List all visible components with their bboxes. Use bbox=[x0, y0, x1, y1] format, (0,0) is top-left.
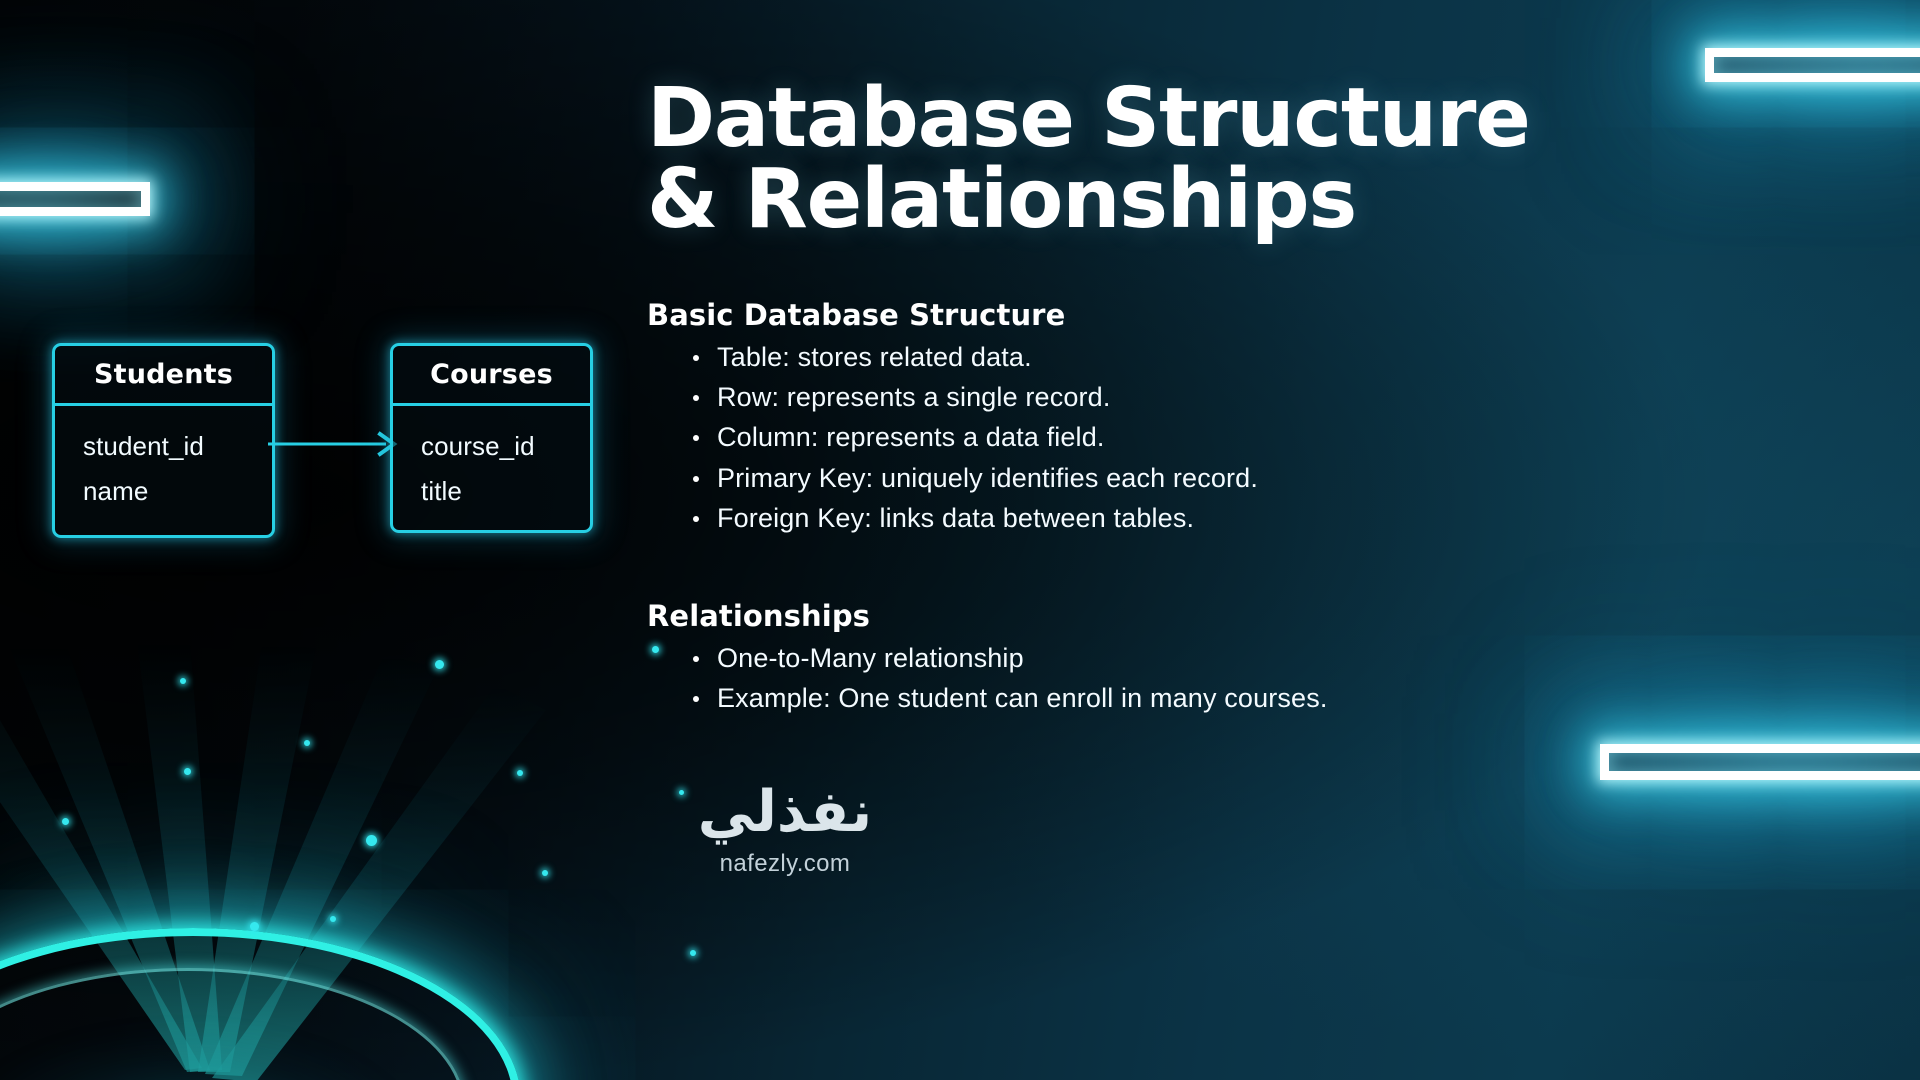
section-heading: Relationships bbox=[647, 599, 1827, 633]
list-item: Example: One student can enroll in many … bbox=[693, 679, 1827, 717]
er-diagram: Students student_id name Courses course_… bbox=[52, 343, 612, 543]
er-field-list: student_id name bbox=[55, 406, 272, 514]
list-item: Column: represents a data field. bbox=[693, 418, 1827, 456]
neon-bar-left bbox=[0, 182, 150, 216]
er-field: title bbox=[421, 469, 590, 514]
er-table-header: Students bbox=[55, 346, 272, 406]
ring-glow-decoration bbox=[0, 640, 700, 1080]
list-item: Table: stores related data. bbox=[693, 338, 1827, 376]
watermark-domain: nafezly.com bbox=[695, 850, 875, 878]
particle-dot bbox=[517, 770, 523, 776]
er-field: name bbox=[83, 469, 272, 514]
er-field: student_id bbox=[83, 424, 272, 469]
er-table-name: Courses bbox=[430, 359, 553, 390]
neon-bar-top-right bbox=[1705, 48, 1920, 82]
particle-dot bbox=[184, 768, 191, 775]
section-basic-database-structure: Basic Database Structure Table: stores r… bbox=[647, 298, 1827, 536]
bullet-list: One-to-Many relationship Example: One st… bbox=[647, 639, 1827, 717]
neon-frame bbox=[0, 182, 150, 216]
neon-bar-bottom-right bbox=[1600, 744, 1920, 780]
relationship-arrow-icon bbox=[268, 431, 404, 457]
watermark-logo-arabic: نفذلي bbox=[695, 784, 875, 841]
list-item: Row: represents a single record. bbox=[693, 378, 1827, 416]
particle-dot bbox=[542, 870, 548, 876]
er-table-students[interactable]: Students student_id name bbox=[52, 343, 275, 538]
page-title: Database Structure & Relationships bbox=[647, 78, 1827, 240]
slide-canvas: Students student_id name Courses course_… bbox=[0, 0, 1920, 1080]
particle-dot bbox=[250, 922, 259, 931]
particle-dot bbox=[679, 790, 684, 795]
er-table-name: Students bbox=[94, 359, 233, 390]
particle-dot bbox=[366, 835, 377, 846]
watermark: نفذلي nafezly.com bbox=[695, 784, 875, 878]
page-title-line-2: & Relationships bbox=[647, 159, 1827, 240]
er-table-courses[interactable]: Courses course_id title bbox=[390, 343, 593, 533]
particle-dot bbox=[690, 950, 696, 956]
page-title-line-1: Database Structure bbox=[647, 78, 1827, 159]
content-column: Database Structure & Relationships Basic… bbox=[647, 78, 1827, 717]
particle-dot bbox=[304, 740, 310, 746]
neon-frame bbox=[1705, 48, 1920, 82]
glow-ring bbox=[0, 928, 505, 1080]
neon-frame bbox=[1600, 744, 1920, 780]
section-heading: Basic Database Structure bbox=[647, 298, 1827, 332]
list-item: One-to-Many relationship bbox=[693, 639, 1827, 677]
particle-dot bbox=[180, 678, 186, 684]
particle-dot bbox=[435, 660, 444, 669]
er-field-list: course_id title bbox=[393, 406, 590, 514]
particle-dot bbox=[62, 818, 69, 825]
list-item: Foreign Key: links data between tables. bbox=[693, 499, 1827, 537]
particle-dot bbox=[330, 916, 336, 922]
er-field: course_id bbox=[421, 424, 590, 469]
section-relationships: Relationships One-to-Many relationship E… bbox=[647, 599, 1827, 717]
er-table-header: Courses bbox=[393, 346, 590, 406]
list-item: Primary Key: uniquely identifies each re… bbox=[693, 459, 1827, 497]
bullet-list: Table: stores related data. Row: represe… bbox=[647, 338, 1827, 536]
